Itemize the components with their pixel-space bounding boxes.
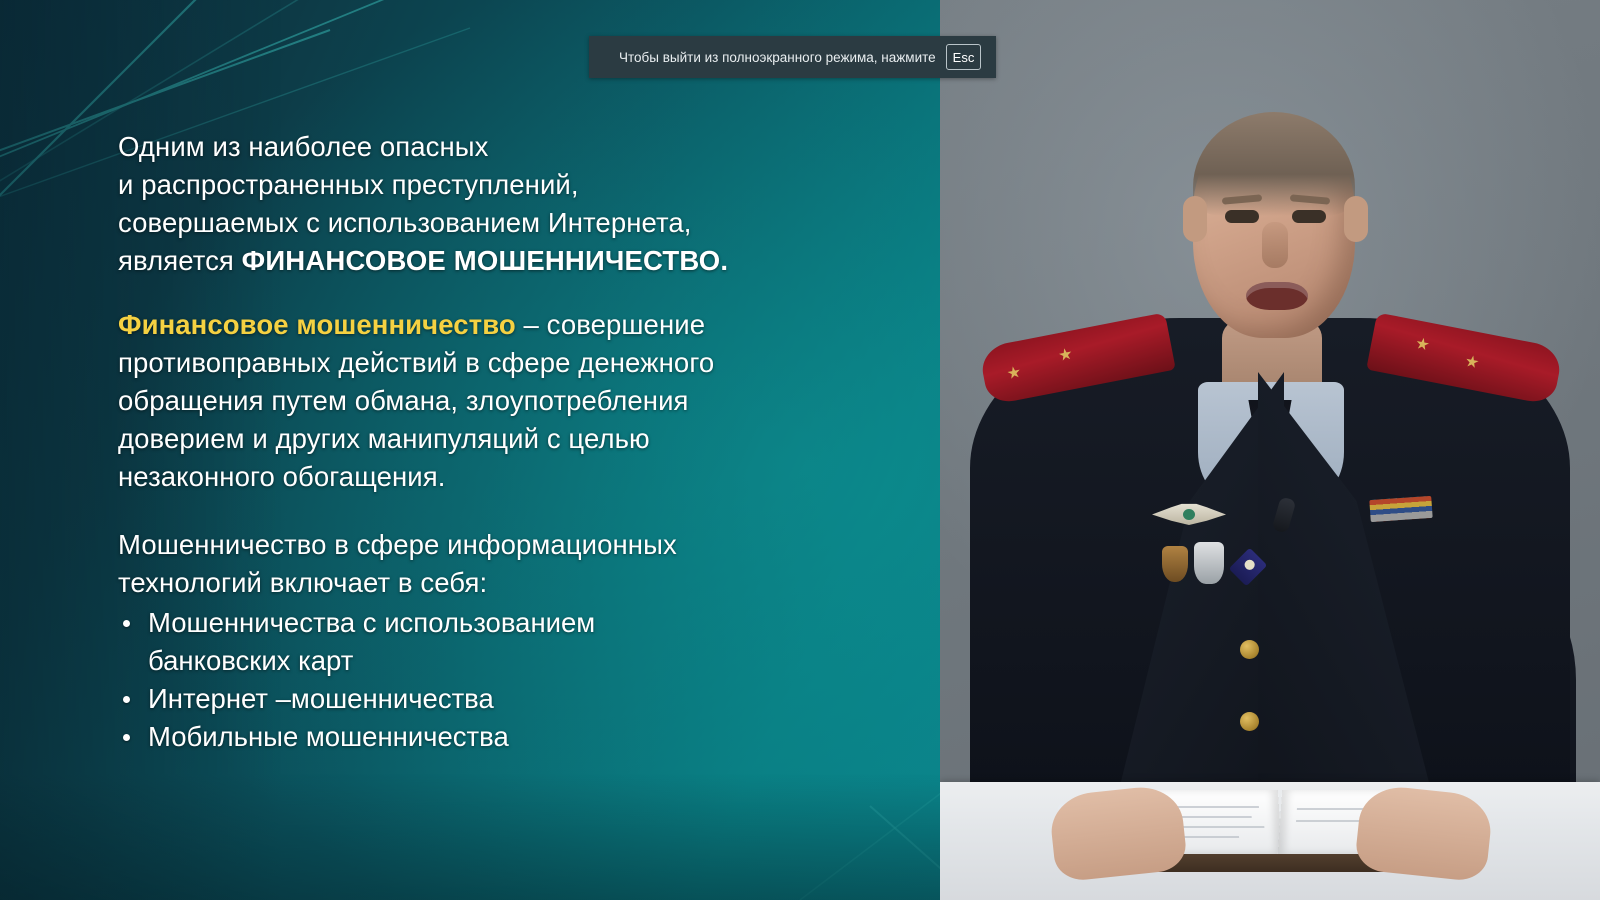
bronze-badge-icon [1162, 546, 1188, 582]
esc-key-badge: Esc [946, 44, 982, 70]
rank-star-icon [1464, 354, 1479, 369]
bullet-dot-icon [123, 696, 130, 703]
screen: Одним из наиболее опасных и распростране… [0, 0, 1600, 900]
list-item: Мобильные мошенничества [118, 718, 818, 756]
bullet-dot-icon [123, 620, 130, 627]
presentation-slide: Одним из наиболее опасных и распростране… [0, 0, 940, 900]
paragraph-intro-line-2: и распространенных преступлений, [118, 166, 818, 204]
video-pane[interactable]: Police officer in dark dress uniform spe… [940, 0, 1600, 900]
list-item: Интернет –мошенничества [118, 680, 818, 718]
fullscreen-exit-toast: Чтобы выйти из полноэкранного режима, на… [589, 36, 996, 78]
paragraph-definition-line-3: обращения путем обмана, злоупотребления [118, 382, 818, 420]
speaker-description: Police officer in dark dress uniform spe… [940, 0, 941, 1]
fullscreen-exit-message: Чтобы выйти из полноэкранного режима, на… [619, 50, 936, 65]
jacket-button-icon [1240, 640, 1259, 659]
paragraph-definition-line-2: противоправных действий в сфере денежног… [118, 344, 818, 382]
speaker-left-ear [1183, 196, 1207, 242]
paragraph-it-fraud-line-1: Мошенничество в сфере информационных [118, 526, 818, 564]
bullet-dot-icon [123, 734, 130, 741]
list-item: Мошенничества с использованием банковски… [118, 604, 818, 680]
fraud-type-list: Мошенничества с использованием банковски… [118, 604, 818, 756]
paragraph-definition-line-1-rest: – совершение [516, 309, 705, 340]
slide-content: Одним из наиболее опасных и распростране… [118, 128, 818, 782]
speaker-hair [1193, 112, 1355, 216]
paragraph-definition-line-4: доверием и других манипуляций с целью [118, 420, 818, 458]
rank-star-icon [1415, 337, 1430, 352]
paragraph-definition: Финансовое мошенничество – совершение пр… [118, 306, 818, 496]
rank-star-icon [1058, 347, 1073, 362]
speaker-right-ear [1344, 196, 1368, 242]
list-item-text: Мошенничества с использованием [148, 607, 595, 638]
speaker-left-eye [1225, 210, 1259, 223]
paragraph-intro: Одним из наиболее опасных и распростране… [118, 128, 818, 280]
term-financial-fraud-caps: ФИНАНСОВОЕ МОШЕННИЧЕСТВО. [242, 245, 729, 276]
paragraph-intro-prefix: является [118, 245, 242, 276]
list-item-text: Интернет –мошенничества [148, 683, 494, 714]
jacket-button-icon [1240, 712, 1259, 731]
paragraph-intro-line-3: совершаемых с использованием Интернета, [118, 204, 818, 242]
service-ribbon-bar-icon [1369, 496, 1432, 522]
badge-gem-icon [1183, 509, 1195, 520]
speaker-figure: Police officer in dark dress uniform spe… [940, 0, 1600, 900]
paragraph-it-fraud: Мошенничество в сфере информационных тех… [118, 526, 818, 756]
paragraph-definition-line-1: Финансовое мошенничество – совершение [118, 306, 818, 344]
list-item-continuation: банковских карт [148, 642, 818, 680]
speaker-right-eye [1292, 210, 1326, 223]
highlighted-term-financial-fraud: Финансовое мошенничество [118, 309, 516, 340]
silver-badge-icon [1194, 542, 1224, 584]
paragraph-it-fraud-line-2: технологий включает в себя: [118, 564, 818, 602]
speaker-mouth [1246, 282, 1308, 310]
paragraph-definition-line-5: незаконного обогащения. [118, 458, 818, 496]
paragraph-intro-line-1: Одним из наиболее опасных [118, 128, 818, 166]
list-item-text: Мобильные мошенничества [148, 721, 509, 752]
rank-star-icon [1006, 365, 1021, 380]
speaker-nose [1262, 222, 1288, 268]
paragraph-intro-line-4: является ФИНАНСОВОЕ МОШЕННИЧЕСТВО. [118, 242, 818, 280]
